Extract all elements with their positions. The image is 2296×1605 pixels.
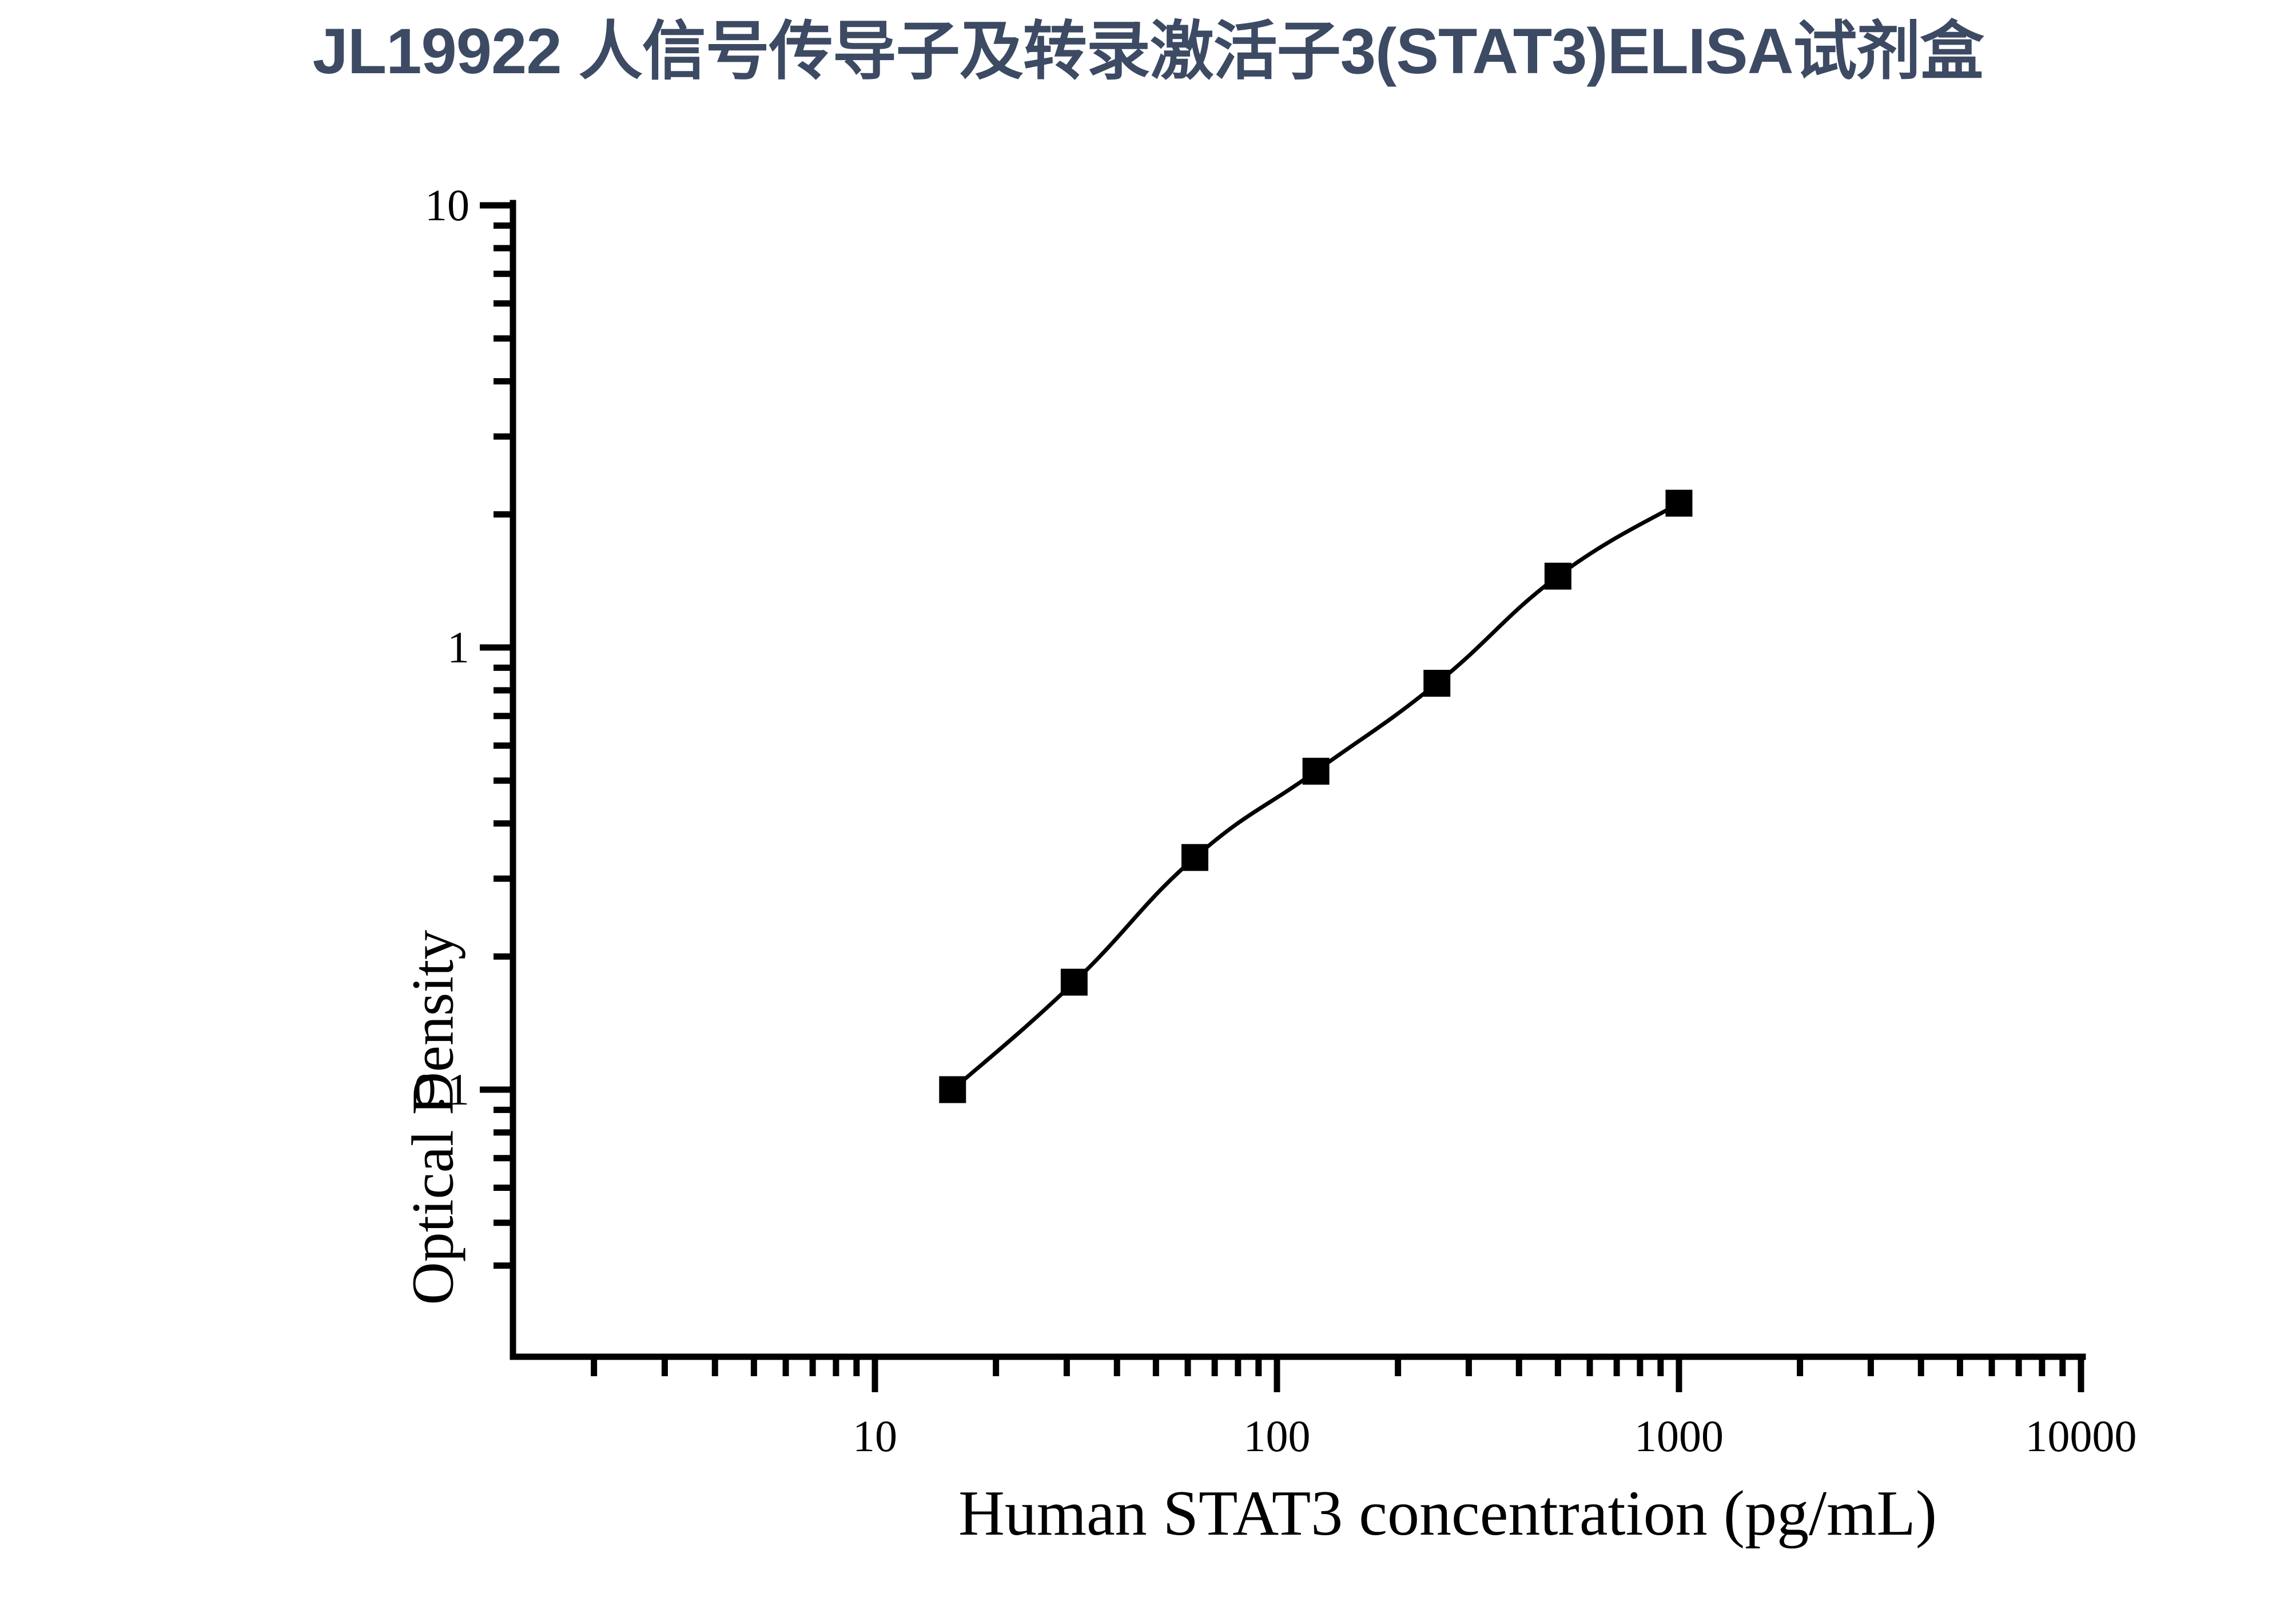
chart-page: JL19922 人信号传导子及转录激活子3(STAT3)ELISA试剂盒 Opt…: [0, 0, 2296, 1605]
y-axis-label: Optical Density: [399, 774, 467, 1460]
x-axis-label: Human STAT3 concentration (pg/mL): [0, 1477, 2296, 1551]
y-tick-label: 10: [425, 183, 469, 228]
y-tick-label: 1: [447, 625, 469, 670]
x-tick-label: 100: [1244, 1414, 1311, 1459]
x-tick-label: 1000: [1634, 1414, 1724, 1459]
standard-curve-line: [953, 503, 1679, 1090]
x-tick-label: 10: [853, 1414, 897, 1459]
x-tick-label: 10000: [2026, 1414, 2137, 1459]
data-point-marker: [1423, 670, 1450, 697]
data-point-marker: [1061, 969, 1088, 996]
plot-area: Optical Density Human STAT3 concentratio…: [0, 0, 2296, 1605]
plot-svg: [0, 0, 2296, 1605]
data-point-marker: [1545, 563, 1571, 590]
axis-spine: [513, 203, 2083, 1357]
data-point-marker: [1181, 844, 1208, 871]
data-series: [939, 490, 1692, 1103]
data-point-marker: [939, 1076, 966, 1103]
axes-group: [480, 203, 2083, 1392]
data-point-marker: [1666, 490, 1693, 517]
data-point-marker: [1303, 758, 1330, 785]
y-tick-label: 0.1: [414, 1067, 470, 1112]
